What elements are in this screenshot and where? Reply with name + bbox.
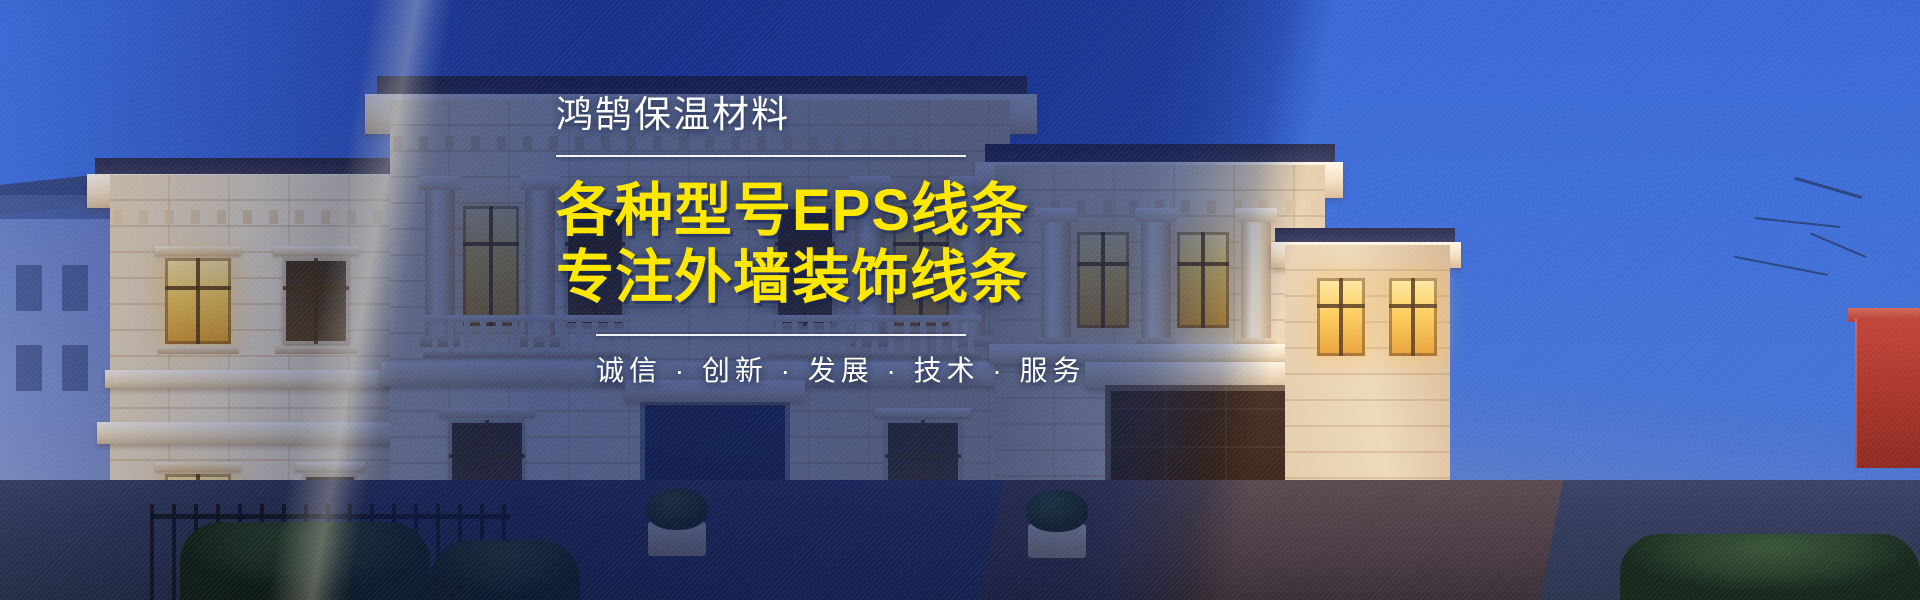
promo-banner: 鸿鹄保温材料 各种型号EPS线条 专注外墙装饰线条 诚信 · 创新 · 发展 ·…: [0, 0, 1920, 600]
banner-copy: 鸿鹄保温材料 各种型号EPS线条 专注外墙装饰线条 诚信 · 创新 · 发展 ·…: [556, 96, 1196, 385]
divider-top: [556, 155, 966, 157]
headline-line-1: 各种型号EPS线条: [556, 177, 1196, 244]
tagline: 诚信 · 创新 · 发展 · 技术 · 服务: [596, 357, 1196, 385]
headline-line-2: 专注外墙装饰线条: [556, 244, 1196, 311]
brand-name: 鸿鹄保温材料: [556, 96, 1196, 133]
divider-bottom: [596, 334, 966, 336]
